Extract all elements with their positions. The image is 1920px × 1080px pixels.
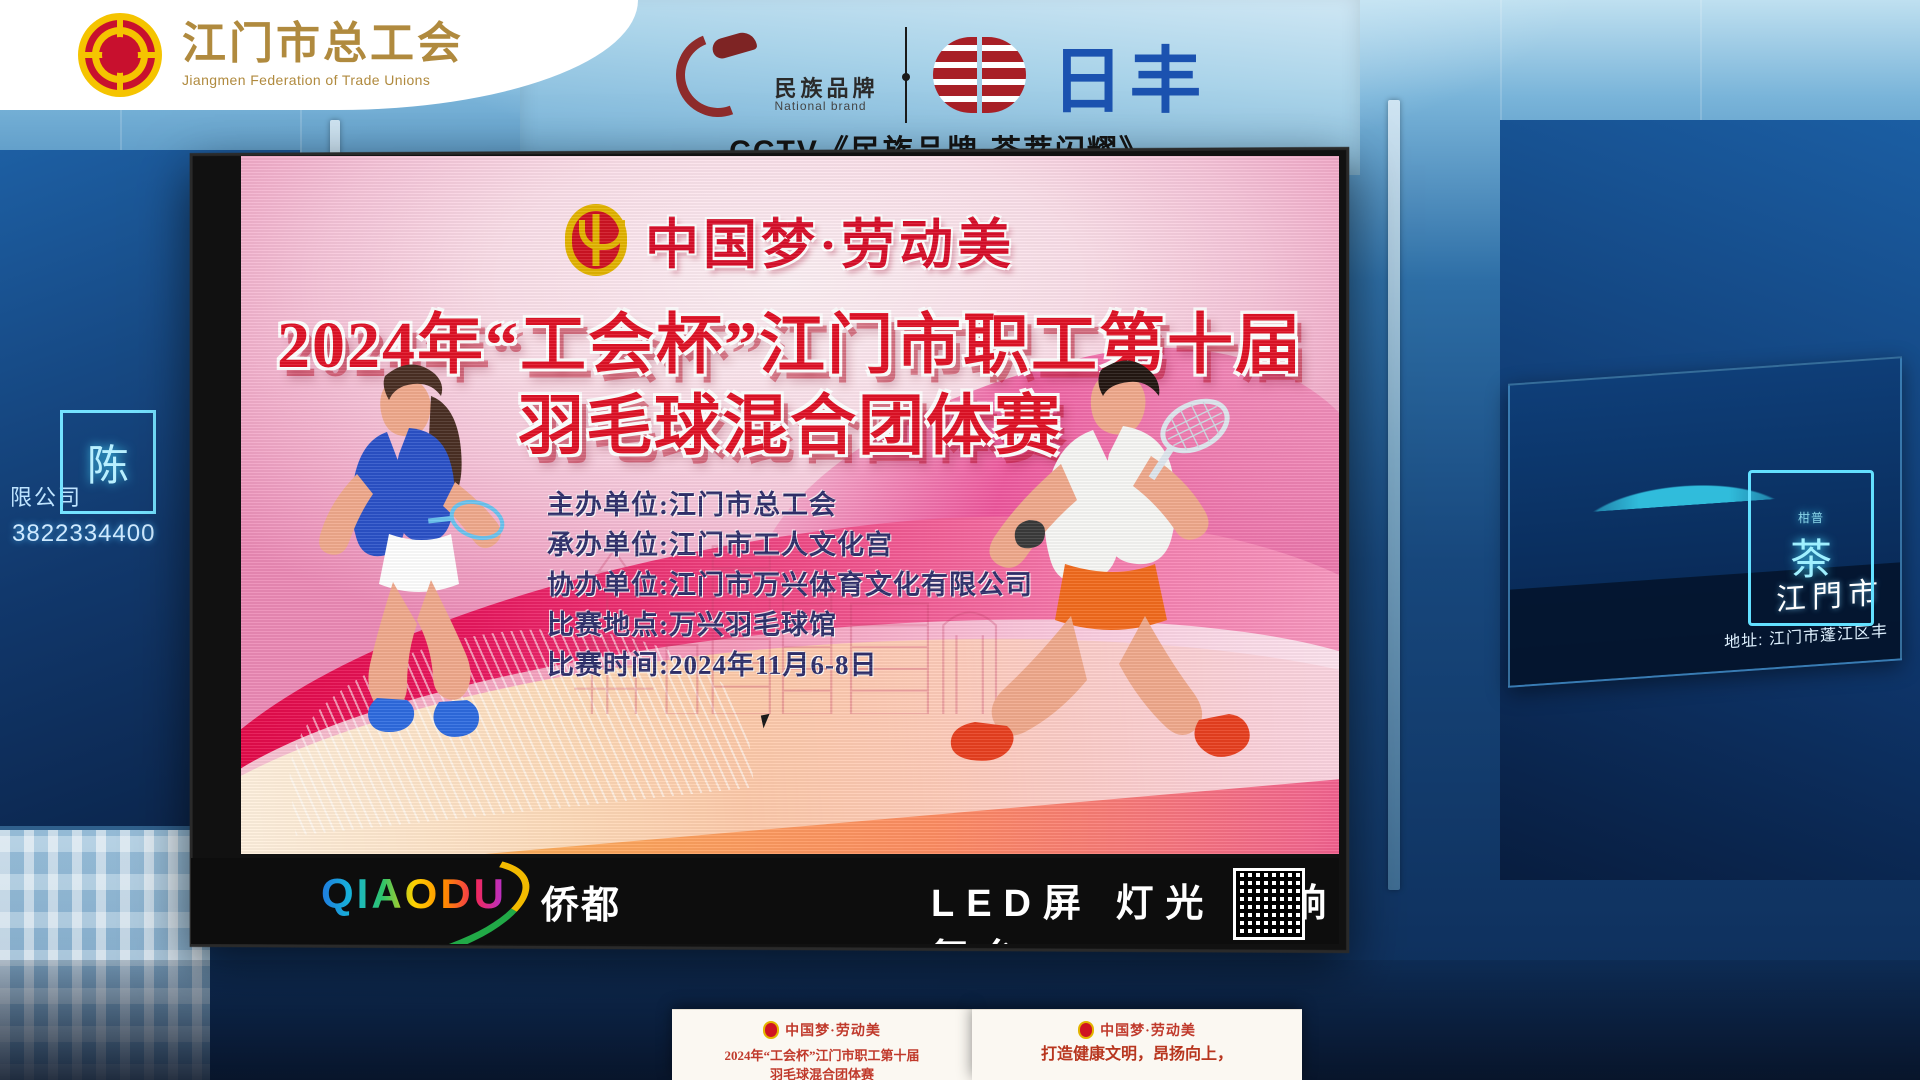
union-emblem-icon bbox=[78, 13, 162, 97]
table-sign-left: 中国梦·劳动美 2024年“工会杯”江门市职工第十届 羽毛球混合团体赛 bbox=[672, 1009, 972, 1080]
table-sign-right-line1: 打造健康文明，昂扬向上， bbox=[972, 1040, 1302, 1064]
union-emblem-icon bbox=[565, 204, 627, 276]
table-sign-right: 中国梦·劳动美 打造健康文明，昂扬向上， bbox=[972, 1009, 1302, 1080]
tea-sign: 柑普 茶 bbox=[1748, 470, 1874, 626]
led-bottom-strip: QIAODU 侨都 LED屏 灯光 音响 舞台 bbox=[191, 858, 1339, 944]
dragon-arc-icon bbox=[672, 29, 764, 121]
table-sign-right-slogan: 中国梦·劳动美 bbox=[1100, 1020, 1196, 1040]
male-badminton-player-graphic bbox=[919, 334, 1279, 764]
tea-sign-big: 茶 bbox=[1790, 526, 1832, 587]
board-slogan-row: 中国梦·劳动美 bbox=[565, 200, 1015, 279]
left-wall-chen-sign: 陈 bbox=[60, 410, 156, 514]
tea-sign-small: 柑普 bbox=[1798, 509, 1824, 526]
watermark-cn-title: 江门市总工会 bbox=[182, 22, 464, 66]
led-stage-screen: 中国梦·劳动美 2024年“工会杯”江门市职工第十届 羽毛球混合团体赛 主办单位… bbox=[185, 150, 1345, 950]
watermark-en-title: Jiangmen Federation of Trade Unions bbox=[182, 72, 464, 88]
left-wall-phone-text: 3822334400 bbox=[12, 520, 155, 548]
rifeng-logo-icon bbox=[933, 37, 1026, 113]
union-emblem-icon bbox=[1078, 1021, 1094, 1039]
qiaodu-brand-en: QIAODU bbox=[321, 870, 507, 918]
table-sign-left-line2: 羽毛球混合团体赛 bbox=[672, 1064, 972, 1080]
female-badminton-player-graphic bbox=[281, 324, 541, 744]
national-brand-cn: 民族品牌 bbox=[774, 77, 878, 100]
screenshot-root: 电解质≥200 限公司 3822334400 陈 東歐 江門市 地址: 江门市蓬… bbox=[0, 0, 1920, 1080]
vertical-divider bbox=[905, 27, 907, 123]
union-emblem-icon bbox=[763, 1021, 779, 1039]
board-slogan-text: 中国梦·劳动美 bbox=[645, 200, 1015, 279]
led-screen-content: 中国梦·劳动美 2024年“工会杯”江门市职工第十届 羽毛球混合团体赛 主办单位… bbox=[241, 156, 1339, 854]
national-brand-en: National brand bbox=[774, 100, 878, 113]
qr-code-icon bbox=[1233, 868, 1305, 940]
qiaodu-brand-cn: 侨都 bbox=[541, 874, 621, 929]
table-sign-left-line1: 2024年“工会杯”江门市职工第十届 bbox=[672, 1045, 972, 1064]
truss-girder bbox=[1388, 100, 1400, 890]
table-sign-left-slogan: 中国梦·劳动美 bbox=[785, 1020, 881, 1040]
rifeng-brand-name: 日丰 bbox=[1052, 22, 1208, 127]
